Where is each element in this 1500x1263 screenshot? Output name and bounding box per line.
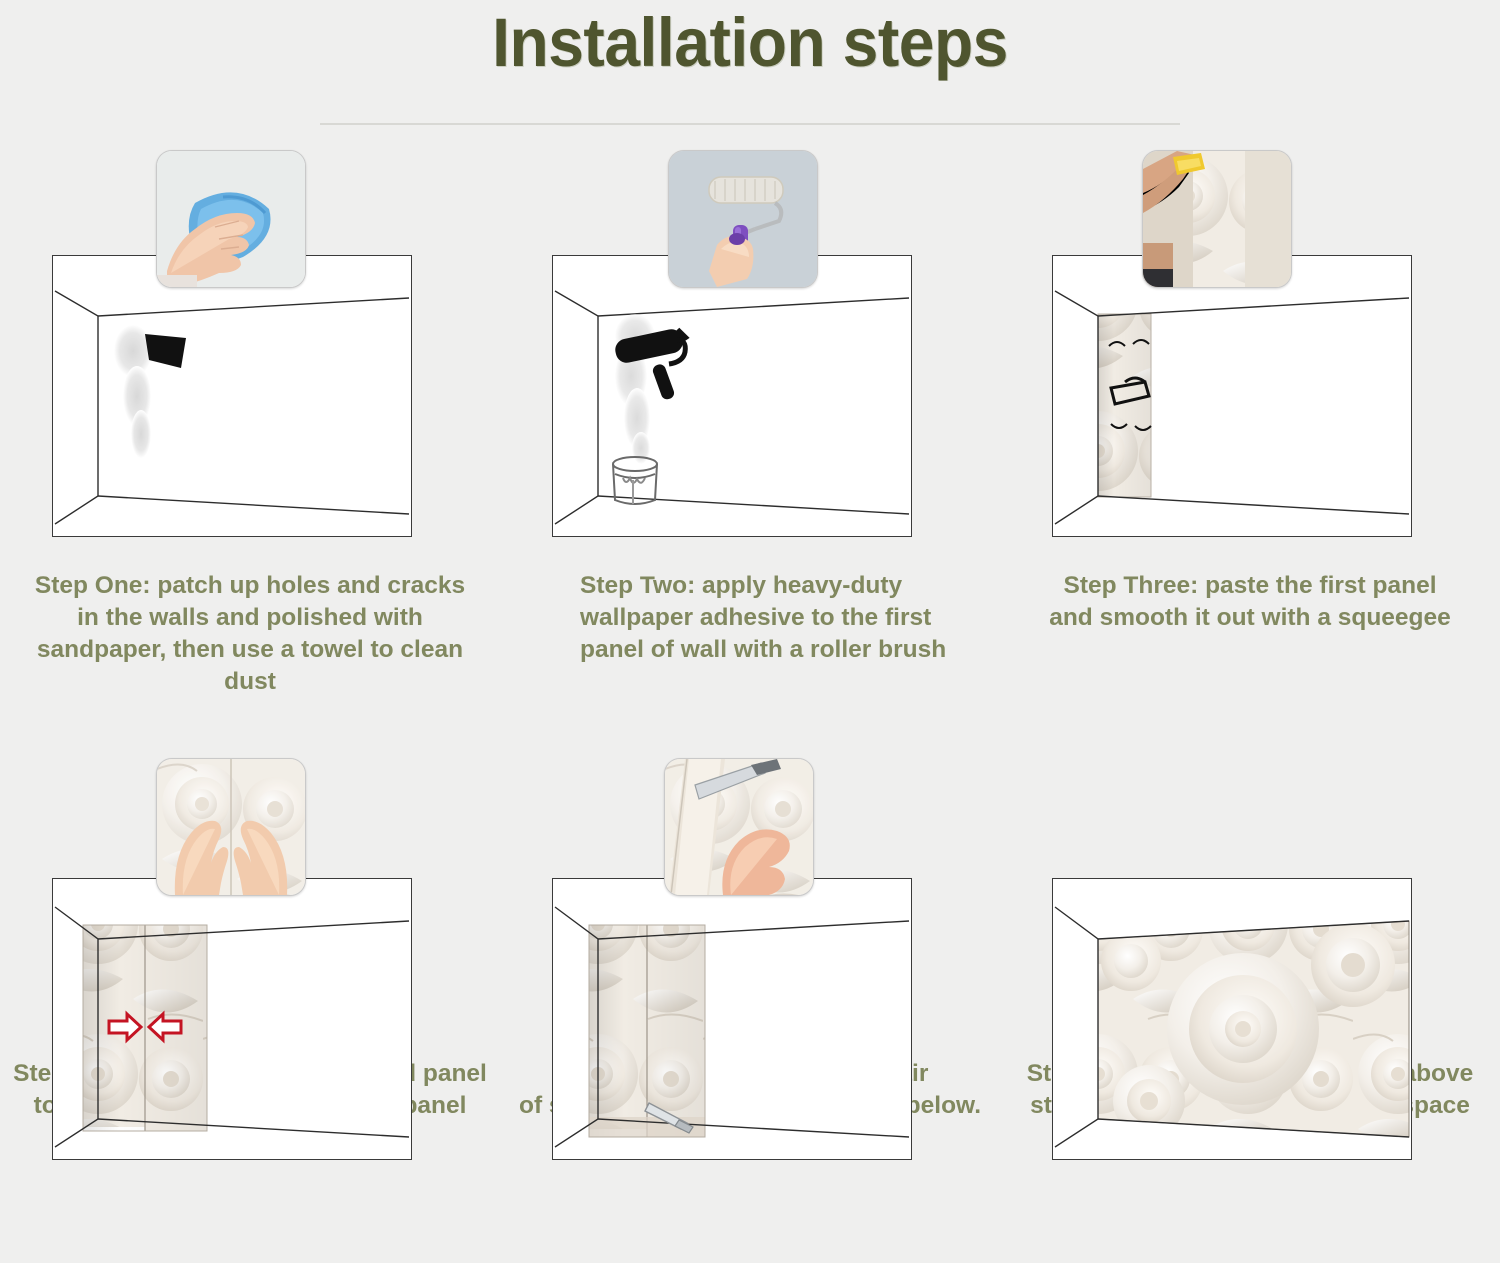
- room-diagram-six: [1052, 878, 1412, 1160]
- step-two-caption: Step Two: apply heavy-duty wallpaper adh…: [500, 570, 1000, 666]
- wallpaper-panel-first: [1098, 314, 1151, 497]
- step-one-caption: Step One: patch up holes and cracks in t…: [0, 570, 500, 698]
- step-three-caption: Step Three: paste the first panel and sm…: [1000, 570, 1500, 634]
- room-diagram-one: [52, 255, 412, 537]
- step-five-figure: [500, 758, 1000, 1058]
- step-card-three: Step Three: paste the first panel and sm…: [1000, 150, 1500, 698]
- hand-wiping-wall-photo: [156, 150, 306, 288]
- step-one-figure: [0, 150, 500, 570]
- paint-roller-photo: [668, 150, 818, 288]
- header-divider: [320, 123, 1180, 125]
- steps-row-bottom: Step Four: slowly slide the second panel…: [0, 758, 1500, 1122]
- step-six-figure: [1000, 758, 1500, 1058]
- page-title: Installation steps: [53, 8, 1448, 77]
- room-diagram-two: [552, 255, 912, 537]
- step-card-one: Step One: patch up holes and cracks in t…: [0, 150, 500, 698]
- installation-steps-infographic: Installation steps: [0, 0, 1500, 1263]
- room-diagram-five: [552, 878, 912, 1160]
- step-card-two: Step Two: apply heavy-duty wallpaper adh…: [500, 150, 1000, 698]
- steps-row-top: Step One: patch up holes and cracks in t…: [0, 150, 1500, 698]
- squeegee-smoothing-photo: [1142, 150, 1292, 288]
- step-four-figure: [0, 758, 500, 1058]
- wallpaper-panels-trim: [589, 925, 705, 1137]
- step-three-figure: [1000, 150, 1500, 570]
- step-card-four: Step Four: slowly slide the second panel…: [0, 758, 500, 1122]
- room-diagram-four: [52, 878, 412, 1160]
- steps-grid: Step One: patch up holes and cracks in t…: [0, 150, 1500, 1123]
- wallpaper-panels-two: [83, 925, 207, 1131]
- step-two-figure: [500, 150, 1000, 570]
- header: Installation steps: [0, 0, 1500, 125]
- knife-cutting-photo: [664, 758, 814, 896]
- hands-sliding-panels-photo: [156, 758, 306, 896]
- room-diagram-three: [1052, 255, 1412, 537]
- step-card-six: Step Six:In accordance with the above st…: [1000, 758, 1500, 1122]
- step-card-five: Step Five: Use a knife or a pair of scis…: [500, 758, 1000, 1122]
- wallpaper-full-wall: [1093, 915, 1411, 1143]
